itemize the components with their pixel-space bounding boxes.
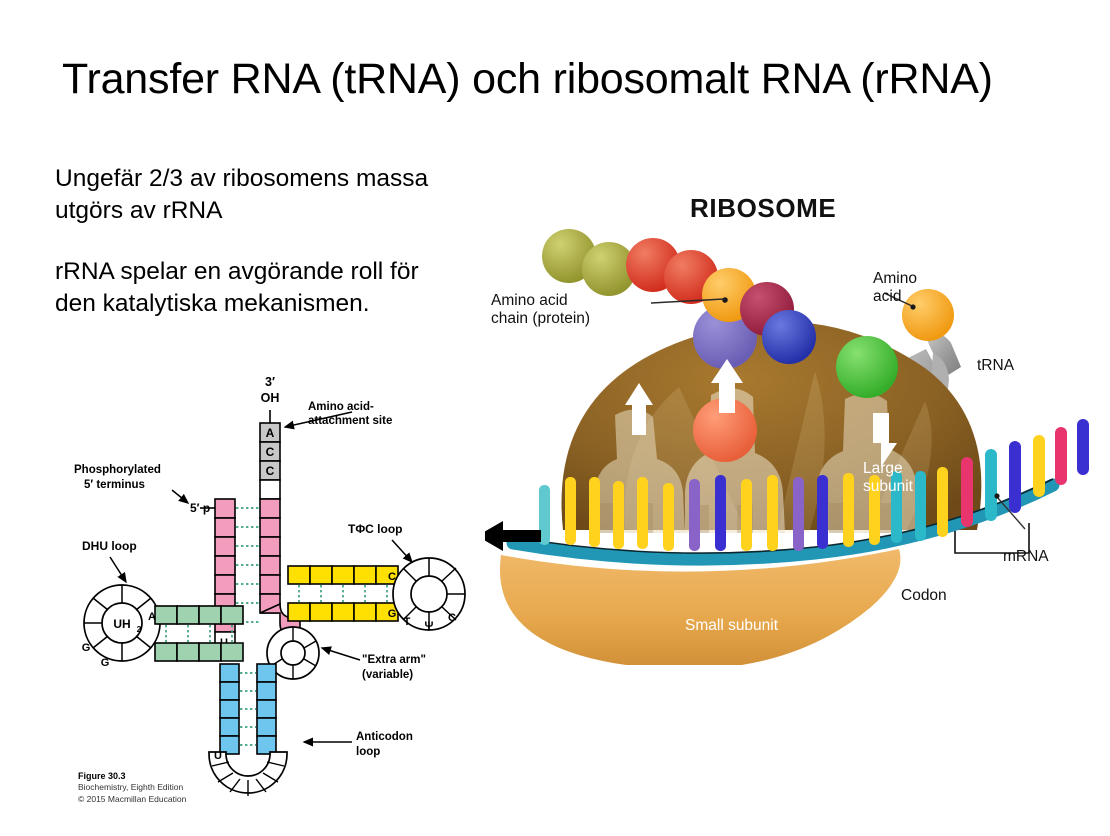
trna-diagram-svg: A C C [60, 370, 490, 820]
body-text-block: Ungefär 2/3 av ribosomens massa utgörs a… [55, 163, 455, 320]
label-anticodon-2: loop [356, 746, 380, 758]
acceptor-cap-bases: A C C [260, 423, 280, 499]
hbond-tpsic [299, 585, 387, 602]
svg-text:G: G [82, 642, 91, 654]
label-phosphorylated-2: 5′ terminus [84, 479, 145, 491]
svg-text:UH: UH [113, 617, 130, 631]
ribosome-diagram-svg [485, 185, 1095, 665]
ribosome-figure: RIBOSOME [485, 185, 1095, 665]
svg-text:U: U [214, 750, 222, 762]
label-large-subunit: Large subunit [863, 460, 913, 497]
label-extra-arm-2: (variable) [362, 669, 413, 681]
svg-text:A: A [266, 426, 275, 440]
hbond-acceptor [236, 508, 259, 622]
label-five-prime-p: 5′ p [190, 501, 210, 515]
svg-text:Ψ: Ψ [425, 620, 434, 632]
label-three-prime: 3′ [265, 375, 275, 389]
label-mrna: mRNA [1003, 548, 1049, 566]
mrna-bases-right [1033, 419, 1089, 497]
label-codon: Codon [901, 587, 947, 605]
label-large-subunit-line2: subunit [863, 478, 913, 495]
anticodon-stem [220, 664, 276, 754]
label-amino-acid-attachment-2: attachment site [308, 415, 392, 427]
trna-cloverleaf-figure: A C C [60, 370, 490, 820]
figure-credit: Figure 30.3 Biochemistry, Eighth Edition… [78, 770, 186, 806]
label-amino-acid-attachment-1: Amino acid- [308, 401, 374, 413]
figure-source: Biochemistry, Eighth Edition [78, 782, 186, 794]
label-amino-acid: Amino acid [873, 270, 917, 307]
svg-text:C: C [266, 464, 275, 478]
figure-copyright: © 2015 Macmillan Education [78, 794, 186, 806]
slide-canvas: Transfer RNA (tRNA) och ribosomalt RNA (… [0, 0, 1110, 836]
label-extra-arm-1: "Extra arm" [362, 654, 426, 666]
label-amino-acid-chain-line1: Amino acid [491, 292, 568, 309]
label-amino-acid-line2: acid [873, 288, 901, 305]
anticodon-loop: U [209, 750, 287, 796]
svg-text:C: C [266, 445, 275, 459]
tpsic-stem [288, 566, 398, 621]
svg-text:A: A [148, 611, 156, 623]
dhu-loop: UH 2 G G [82, 585, 160, 669]
label-large-subunit-line1: Large [863, 460, 903, 477]
label-amino-acid-line1: Amino [873, 270, 917, 287]
svg-text:T: T [404, 616, 411, 628]
svg-text:2: 2 [137, 624, 142, 634]
page-title: Transfer RNA (tRNA) och ribosomalt RNA (… [62, 55, 1062, 104]
label-tpsic-loop: TΦC loop [348, 522, 403, 536]
paragraph-spacer [55, 228, 455, 256]
label-phosphorylated-1: Phosphorylated [74, 464, 161, 476]
inner-sphere-green [836, 336, 898, 398]
label-trna: tRNA [977, 357, 1014, 375]
body-paragraph-1: Ungefär 2/3 av ribosomens massa utgörs a… [55, 163, 455, 228]
figure-number: Figure 30.3 [78, 770, 186, 782]
protein-leader-dot [722, 297, 728, 303]
hbond-anticodon [240, 673, 256, 745]
svg-text:C: C [448, 612, 456, 624]
mrna-leader-dot [994, 493, 999, 498]
label-amino-acid-chain-line2: chain (protein) [491, 310, 590, 327]
small-subunit-body [500, 549, 901, 665]
label-oh: OH [261, 391, 280, 405]
svg-text:G: G [101, 657, 110, 669]
label-amino-acid-chain: Amino acid chain (protein) [491, 292, 590, 329]
tpsic-loop: T Ψ C [393, 558, 465, 632]
label-anticodon-1: Anticodon [356, 731, 413, 743]
svg-text:G: G [388, 608, 397, 620]
label-dhu-loop: DHU loop [82, 539, 137, 553]
body-paragraph-2: rRNA spelar en avgörande roll för den ka… [55, 256, 455, 321]
label-small-subunit: Small subunit [685, 617, 778, 635]
